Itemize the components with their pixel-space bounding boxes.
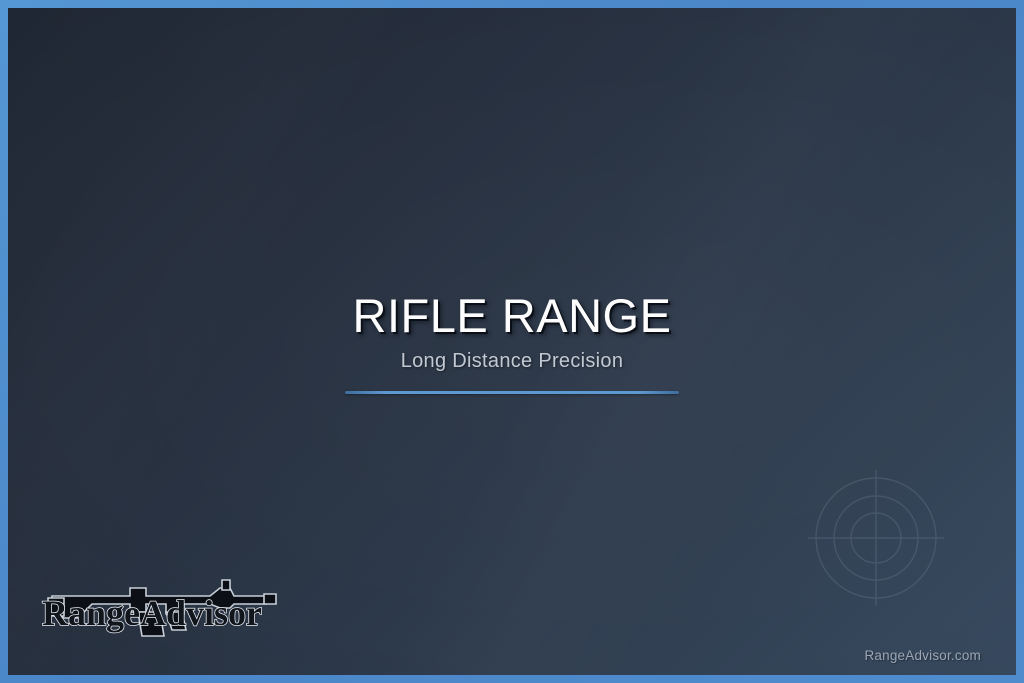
- site-watermark: RangeAdvisor.com: [864, 648, 981, 663]
- logo-wordmark: RangeAdvisor: [42, 593, 262, 633]
- slide-outer-frame: RIFLE RANGE Long Distance Precision: [0, 0, 1024, 683]
- slide-canvas: RIFLE RANGE Long Distance Precision: [8, 8, 1016, 675]
- crosshair-reticle: [806, 468, 946, 608]
- title-accent-rule: [345, 391, 679, 394]
- page-title: RIFLE RANGE: [8, 291, 1016, 340]
- title-block: RIFLE RANGE Long Distance Precision: [8, 291, 1016, 394]
- crosshair-icon: [806, 468, 946, 608]
- page-subtitle: Long Distance Precision: [8, 350, 1016, 373]
- rangeadvisor-logo-icon: RangeAdvisor: [34, 570, 279, 652]
- brand-logo: RangeAdvisor: [34, 570, 279, 652]
